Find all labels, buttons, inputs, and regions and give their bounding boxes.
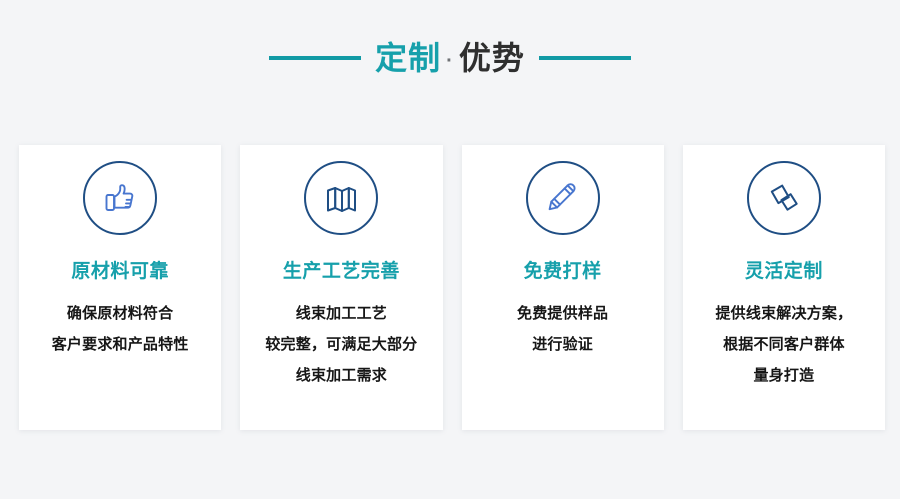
header-rule-left <box>269 56 361 60</box>
feature-card-title: 原材料可靠 <box>71 261 169 284</box>
feature-card-body-line: 提供线束解决方案， <box>715 298 852 329</box>
feature-card[interactable]: 灵活定制 提供线束解决方案， 根据不同客户群体 量身打造 <box>683 145 885 430</box>
feature-card-body: 提供线束解决方案， 根据不同客户群体 量身打造 <box>707 298 860 391</box>
feature-card-title: 免费打样 <box>524 261 602 284</box>
feature-card-body: 免费提供样品 进行验证 <box>509 298 616 360</box>
header-rule-right <box>539 56 631 60</box>
stacked-sheets-icon <box>747 161 821 235</box>
feature-card[interactable]: 原材料可靠 确保原材料符合 客户要求和产品特性 <box>19 145 221 430</box>
feature-card-body-line: 进行验证 <box>517 329 608 360</box>
feature-card-body-line: 较完整，可满足大部分 <box>265 329 417 360</box>
page-title-main: 优势 <box>459 42 525 74</box>
feature-card-body-line: 确保原材料符合 <box>52 298 189 329</box>
feature-card[interactable]: 生产工艺完善 线束加工工艺 较完整，可满足大部分 线束加工需求 <box>240 145 442 430</box>
thumbs-up-icon <box>83 161 157 235</box>
feature-card-body: 确保原材料符合 客户要求和产品特性 <box>44 298 197 360</box>
feature-card-body-line: 客户要求和产品特性 <box>52 329 189 360</box>
page-title: 定制 · 优势 <box>375 42 525 74</box>
pencil-icon <box>526 161 600 235</box>
feature-card-body-line: 线束加工需求 <box>265 360 417 391</box>
feature-card-list: 原材料可靠 确保原材料符合 客户要求和产品特性 生产工艺完善 线束加工工艺 较完… <box>19 145 885 430</box>
feature-card-title: 灵活定制 <box>745 261 823 284</box>
feature-card-body-line: 量身打造 <box>715 360 852 391</box>
page-title-accent: 定制 <box>375 42 441 74</box>
section-header: 定制 · 优势 <box>0 30 900 86</box>
feature-card-title: 生产工艺完善 <box>283 261 400 284</box>
feature-card-body-line: 根据不同客户群体 <box>715 329 852 360</box>
folded-map-icon <box>304 161 378 235</box>
page-title-separator: · <box>441 51 459 71</box>
feature-card-body: 线束加工工艺 较完整，可满足大部分 线束加工需求 <box>257 298 425 391</box>
feature-card[interactable]: 免费打样 免费提供样品 进行验证 <box>462 145 664 430</box>
feature-card-body-line: 免费提供样品 <box>517 298 608 329</box>
feature-card-body-line: 线束加工工艺 <box>265 298 417 329</box>
